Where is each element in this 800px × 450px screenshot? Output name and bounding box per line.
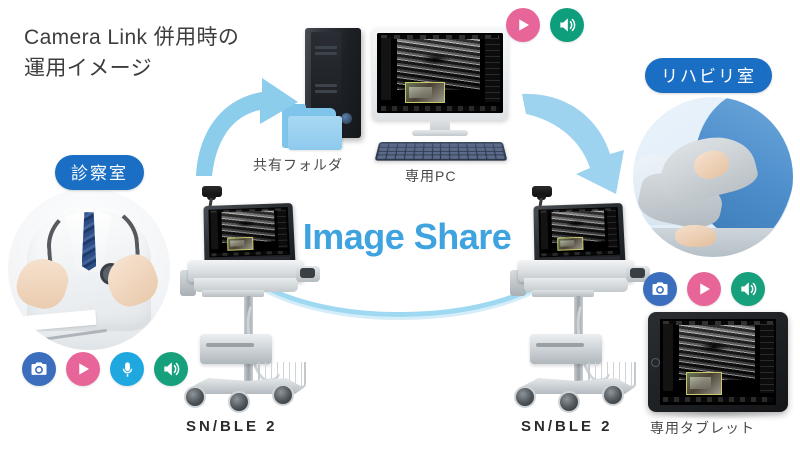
speaker-icon[interactable] bbox=[154, 352, 188, 386]
diagram-canvas: Camera Link 併用時の 運用イメージ 診察室 リハビリ室 bbox=[0, 0, 800, 450]
title-line-1: Camera Link 併用時の bbox=[24, 26, 239, 49]
badge-exam-room: 診察室 bbox=[55, 155, 144, 190]
ultrasound-cart-right bbox=[506, 186, 656, 411]
tablet-ultrasound-screen bbox=[660, 319, 776, 405]
doctor-photo bbox=[8, 188, 170, 350]
picture-in-picture-camera-view bbox=[405, 82, 445, 103]
camera-icon[interactable] bbox=[643, 272, 677, 306]
rehabilitation-photo bbox=[633, 97, 793, 257]
camera-icon[interactable] bbox=[22, 352, 56, 386]
feature-icons-rehab-room bbox=[643, 272, 765, 306]
play-icon[interactable] bbox=[506, 8, 540, 42]
play-icon[interactable] bbox=[687, 272, 721, 306]
cart-logo-left: SN/BLE 2 bbox=[186, 418, 278, 435]
speaker-icon[interactable] bbox=[550, 8, 584, 42]
badge-rehab-room: リハビリ室 bbox=[645, 58, 772, 93]
dedicated-pc-monitor bbox=[372, 28, 508, 134]
speaker-icon[interactable] bbox=[731, 272, 765, 306]
camera-link-head bbox=[532, 186, 552, 197]
camera-link-head bbox=[202, 186, 222, 197]
dedicated-tablet bbox=[648, 312, 788, 412]
feature-icons-exam-room bbox=[22, 352, 188, 386]
cart-ultrasound-screen bbox=[208, 207, 290, 257]
caption-dedicated-pc: 専用PC bbox=[405, 166, 456, 186]
image-share-wordmark: Image Share bbox=[292, 216, 522, 258]
upload-arrow-icon bbox=[190, 68, 310, 180]
play-icon[interactable] bbox=[66, 352, 100, 386]
caption-dedicated-tablet: 専用タブレット bbox=[650, 418, 755, 438]
keyboard bbox=[375, 142, 508, 161]
download-arrow-icon bbox=[520, 88, 640, 200]
cart-logo-right: SN/BLE 2 bbox=[521, 418, 613, 435]
monitor-ultrasound-screen bbox=[377, 33, 503, 113]
microphone-icon[interactable] bbox=[110, 352, 144, 386]
cart-ultrasound-screen bbox=[538, 207, 620, 257]
feature-icons-pc bbox=[506, 8, 584, 42]
